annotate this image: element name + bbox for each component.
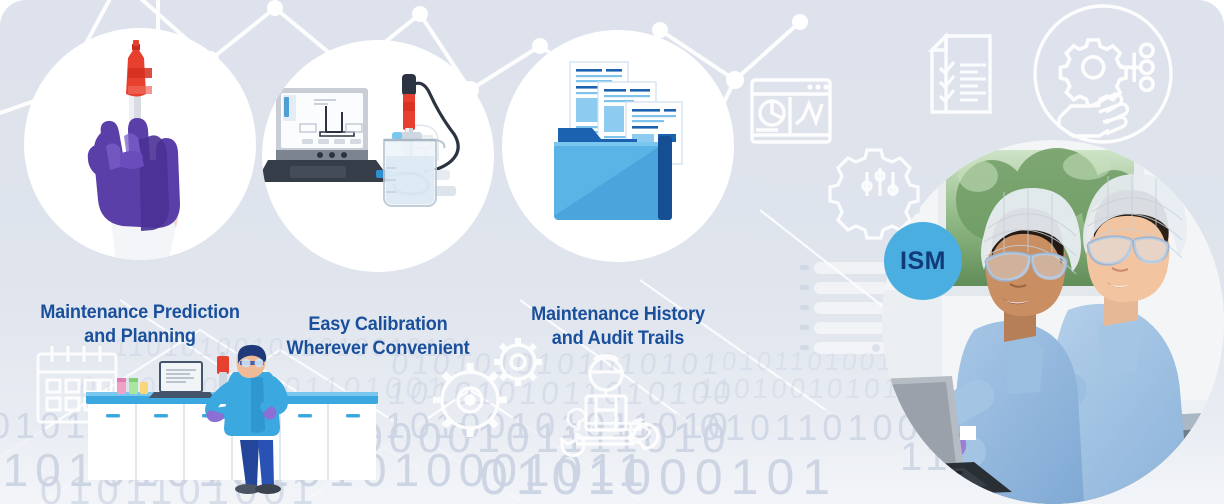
folder-with-documents-illustration <box>502 30 734 262</box>
ism-badge-label: ISM <box>900 247 946 276</box>
feature-maintenance-prediction[interactable]: InPro <box>24 28 256 260</box>
feature-label: Easy Calibration Wherever Convenient <box>239 312 518 360</box>
ism-badge: ISM <box>884 222 962 300</box>
feature-label-line1: Easy Calibration <box>239 312 518 336</box>
corner-top-left <box>0 0 26 26</box>
corner-top-right <box>1198 0 1224 26</box>
laptop-calibration-beaker-illustration <box>262 40 494 272</box>
banner-root: 110101001011010010101 0101010101010101 0… <box>0 0 1224 504</box>
feature-label-line2: and Audit Trails <box>479 326 758 350</box>
feature-label: Maintenance History and Audit Trails <box>479 302 758 350</box>
feature-maintenance-history[interactable]: Maintenance History and Audit Trails <box>502 30 734 262</box>
gloved-hand-holding-sensor-illustration: InPro <box>24 28 256 260</box>
technicians-photo <box>882 140 1224 504</box>
feature-label-line1: Maintenance History <box>479 302 758 326</box>
feature-easy-calibration[interactable]: Easy Calibration Wherever Convenient <box>262 40 494 272</box>
feature-label-line2: Wherever Convenient <box>239 336 518 360</box>
